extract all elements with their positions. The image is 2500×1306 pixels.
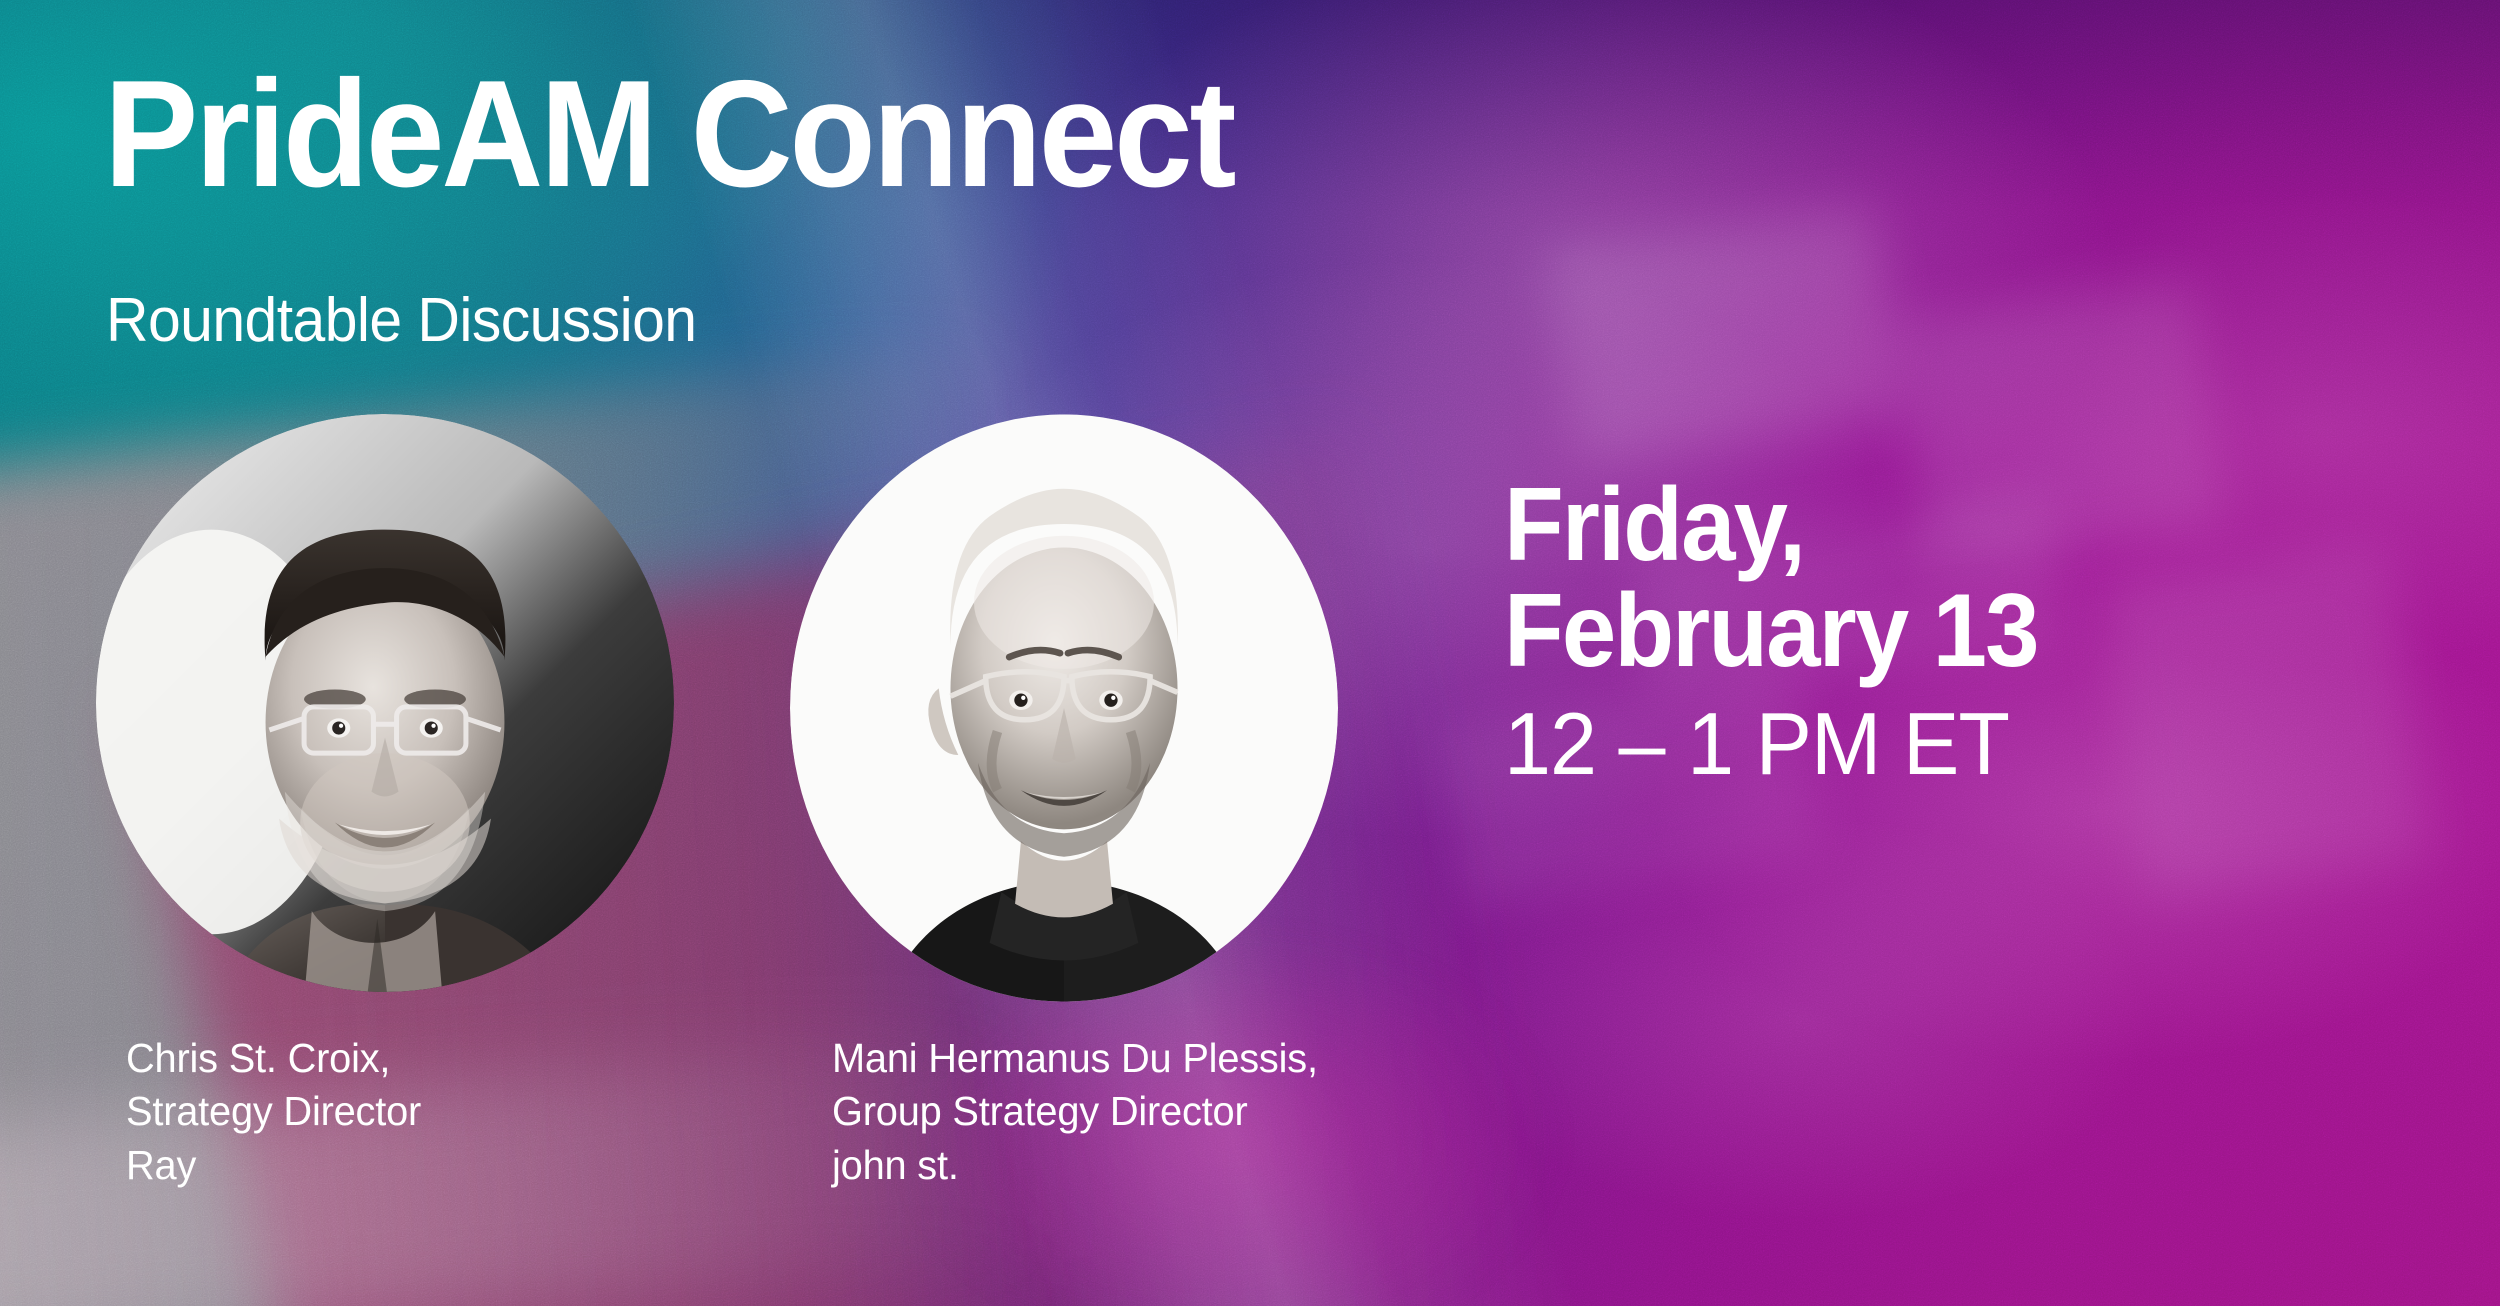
speaker-role: Group Strategy Director	[832, 1085, 1318, 1138]
speaker-role: Strategy Director	[126, 1085, 421, 1138]
speaker-name: Chris St. Croix,	[126, 1032, 421, 1085]
speaker-caption-1: Chris St. Croix, Strategy Director Ray	[126, 1032, 430, 1192]
event-datetime: Friday, February 13 12 – 1 PM ET	[1504, 472, 2072, 796]
event-date-line-1: Friday,	[1504, 472, 2038, 578]
event-subtitle: Roundtable Discussion	[106, 290, 696, 352]
speaker-caption-2: Mani Hermanus Du Plessis, Group Strategy…	[832, 1032, 1333, 1192]
speaker-portrait-mani-hermanus-du-plessis	[790, 408, 1338, 1008]
event-date-line-2: February 13	[1504, 578, 2038, 684]
event-time: 12 – 1 PM ET	[1504, 692, 2049, 796]
speaker-portrait-chris-st-croix	[96, 414, 674, 992]
speaker-name: Mani Hermanus Du Plessis,	[832, 1032, 1318, 1085]
page-title: PrideAM Connect	[104, 58, 1233, 210]
speaker-company: Ray	[126, 1139, 421, 1192]
event-promo-graphic: PrideAM Connect Roundtable Discussion	[0, 0, 2500, 1306]
speaker-company: john st.	[832, 1139, 1318, 1192]
